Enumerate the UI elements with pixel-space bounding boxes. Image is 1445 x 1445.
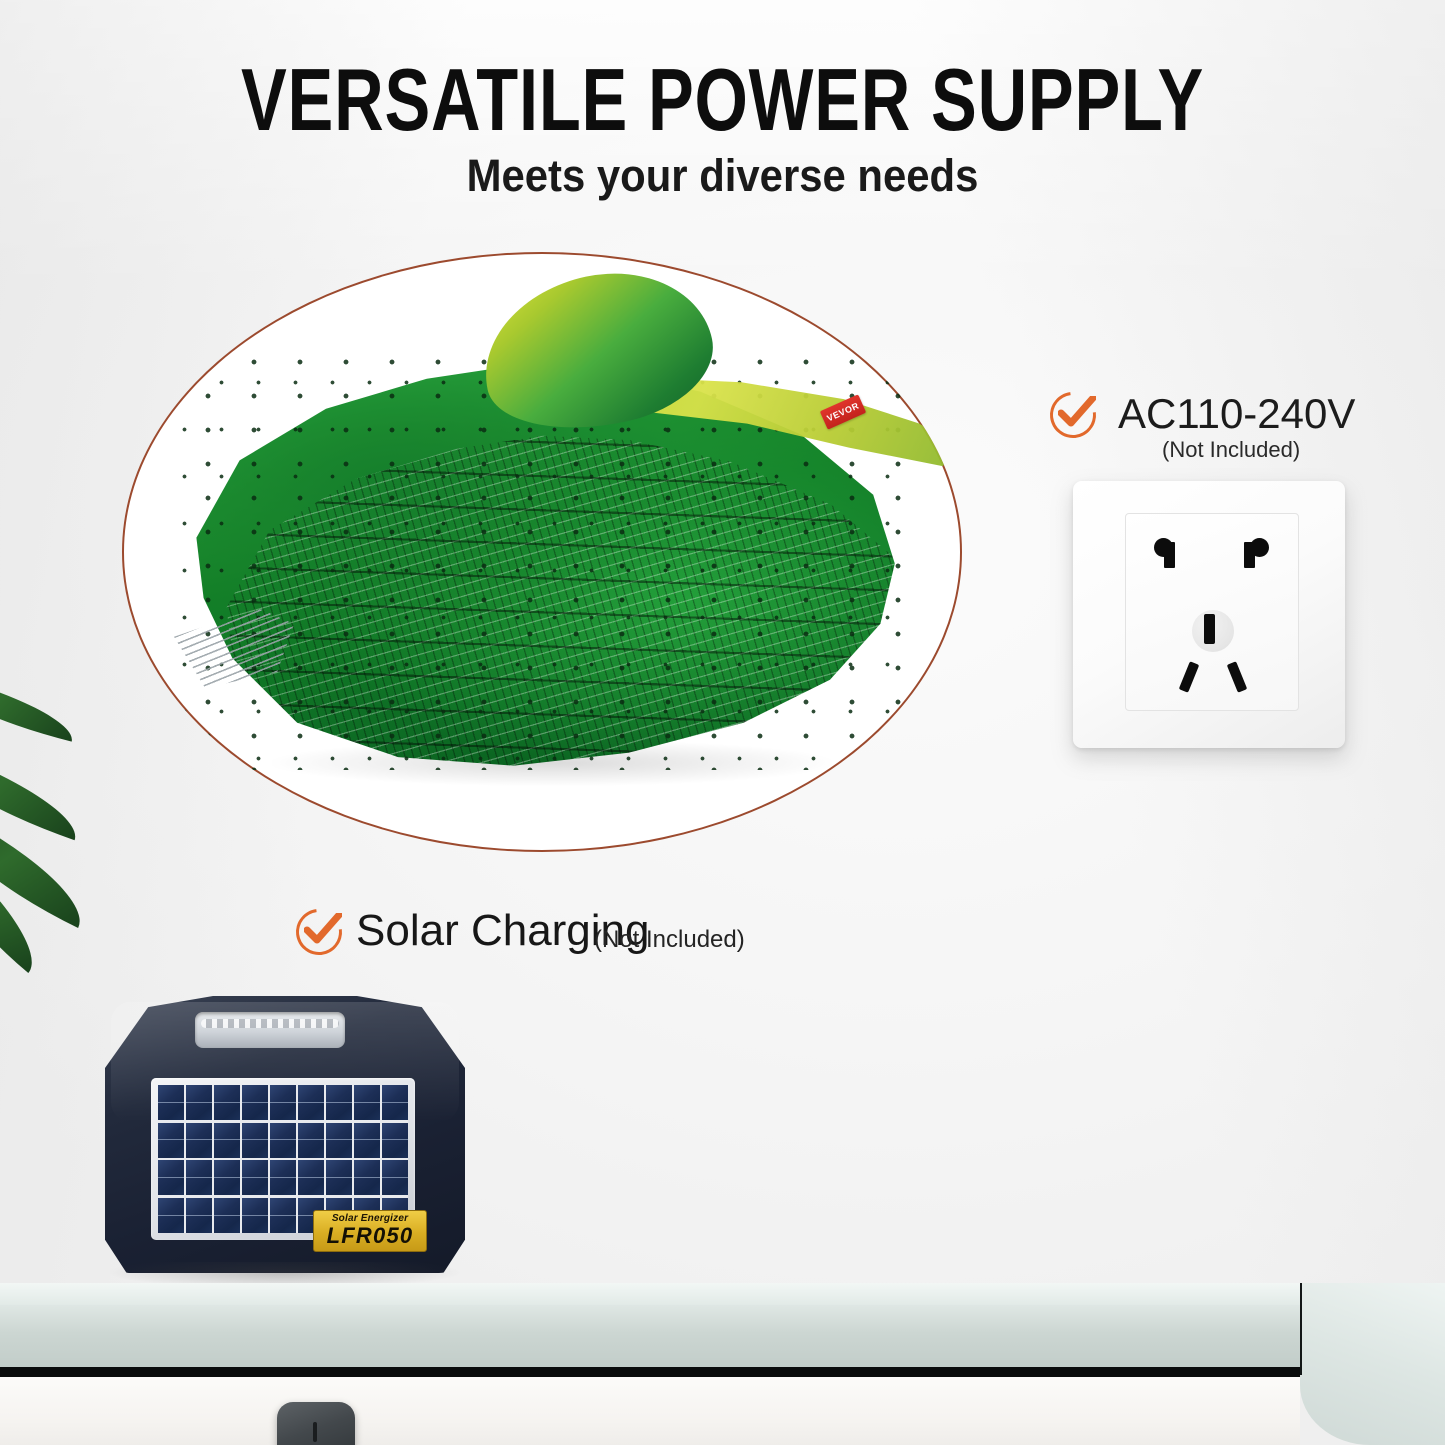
solar-cell <box>186 1160 212 1195</box>
drawer-knob[interactable] <box>277 1402 355 1445</box>
solar-cell <box>326 1085 352 1120</box>
solar-cell <box>242 1198 268 1233</box>
solar-cell <box>326 1123 352 1158</box>
solar-cell <box>354 1085 380 1120</box>
page-title: VERSATILE POWER SUPPLY <box>159 52 1286 148</box>
counter-edge <box>0 1305 1340 1367</box>
solar-cell <box>186 1198 212 1233</box>
page-subtitle: Meets your diverse needs <box>51 148 1395 204</box>
counter-corner <box>1300 1283 1445 1445</box>
unit-handle <box>195 1012 345 1048</box>
check-mark <box>1058 396 1096 430</box>
solar-cell <box>158 1123 184 1158</box>
house-plant <box>0 690 168 950</box>
solar-cell <box>326 1160 352 1195</box>
solar-cell <box>298 1160 324 1195</box>
solar-cell <box>214 1198 240 1233</box>
wall-outlet <box>1073 481 1345 748</box>
solar-cell <box>186 1085 212 1120</box>
solar-cell <box>158 1160 184 1195</box>
solar-cell <box>242 1160 268 1195</box>
solar-cell <box>270 1198 296 1233</box>
solar-cell <box>354 1160 380 1195</box>
solar-cell <box>242 1123 268 1158</box>
cabinet-drawer <box>0 1377 1300 1445</box>
counter-shadow-line <box>0 1367 1340 1377</box>
solar-cell <box>158 1198 184 1233</box>
solar-cell <box>382 1085 408 1120</box>
solar-cell <box>186 1123 212 1158</box>
product-feature-banner: VERSATILE POWER SUPPLY Meets your divers… <box>0 0 1445 1445</box>
plant-leaf <box>0 746 88 840</box>
counter-surface <box>0 1283 1340 1305</box>
solar-cell <box>214 1123 240 1158</box>
solar-cell <box>158 1085 184 1120</box>
solar-cell <box>270 1085 296 1120</box>
check-mark <box>304 913 342 947</box>
counter-corner-seam <box>1300 1283 1302 1375</box>
outlet-pin-left <box>1179 661 1200 693</box>
solar-energizer-unit: Solar Energizer LFR050 <box>105 978 465 1273</box>
netting-product-image: VEVOR <box>152 270 942 790</box>
solar-cell <box>270 1160 296 1195</box>
check-circle-icon <box>296 909 342 955</box>
solar-cell <box>298 1085 324 1120</box>
unit-model-badge: Solar Energizer LFR050 <box>313 1210 427 1252</box>
solar-cell <box>382 1160 408 1195</box>
outlet-slot-right-bulb <box>1250 538 1269 557</box>
outlet-faceplate <box>1125 513 1299 711</box>
outlet-slot-left-bulb <box>1154 538 1173 557</box>
solar-cell <box>242 1085 268 1120</box>
plant-leaf <box>0 672 80 741</box>
solar-cell <box>354 1123 380 1158</box>
feature-ac-title: AC110-240V <box>1118 390 1355 438</box>
solar-cell <box>214 1160 240 1195</box>
outlet-pin-right <box>1227 661 1248 693</box>
product-oval-content: VEVOR <box>122 252 962 852</box>
outlet-ground-slot <box>1204 614 1215 644</box>
feature-solar-note: (Not Included) <box>594 925 745 955</box>
solar-cell <box>382 1123 408 1158</box>
badge-model-text: LFR050 <box>314 1224 426 1248</box>
solar-cell <box>214 1085 240 1120</box>
solar-cell <box>298 1123 324 1158</box>
solar-cell <box>270 1123 296 1158</box>
feature-ac-note: (Not Included) <box>1162 436 1300 464</box>
check-circle-icon <box>1050 392 1096 438</box>
